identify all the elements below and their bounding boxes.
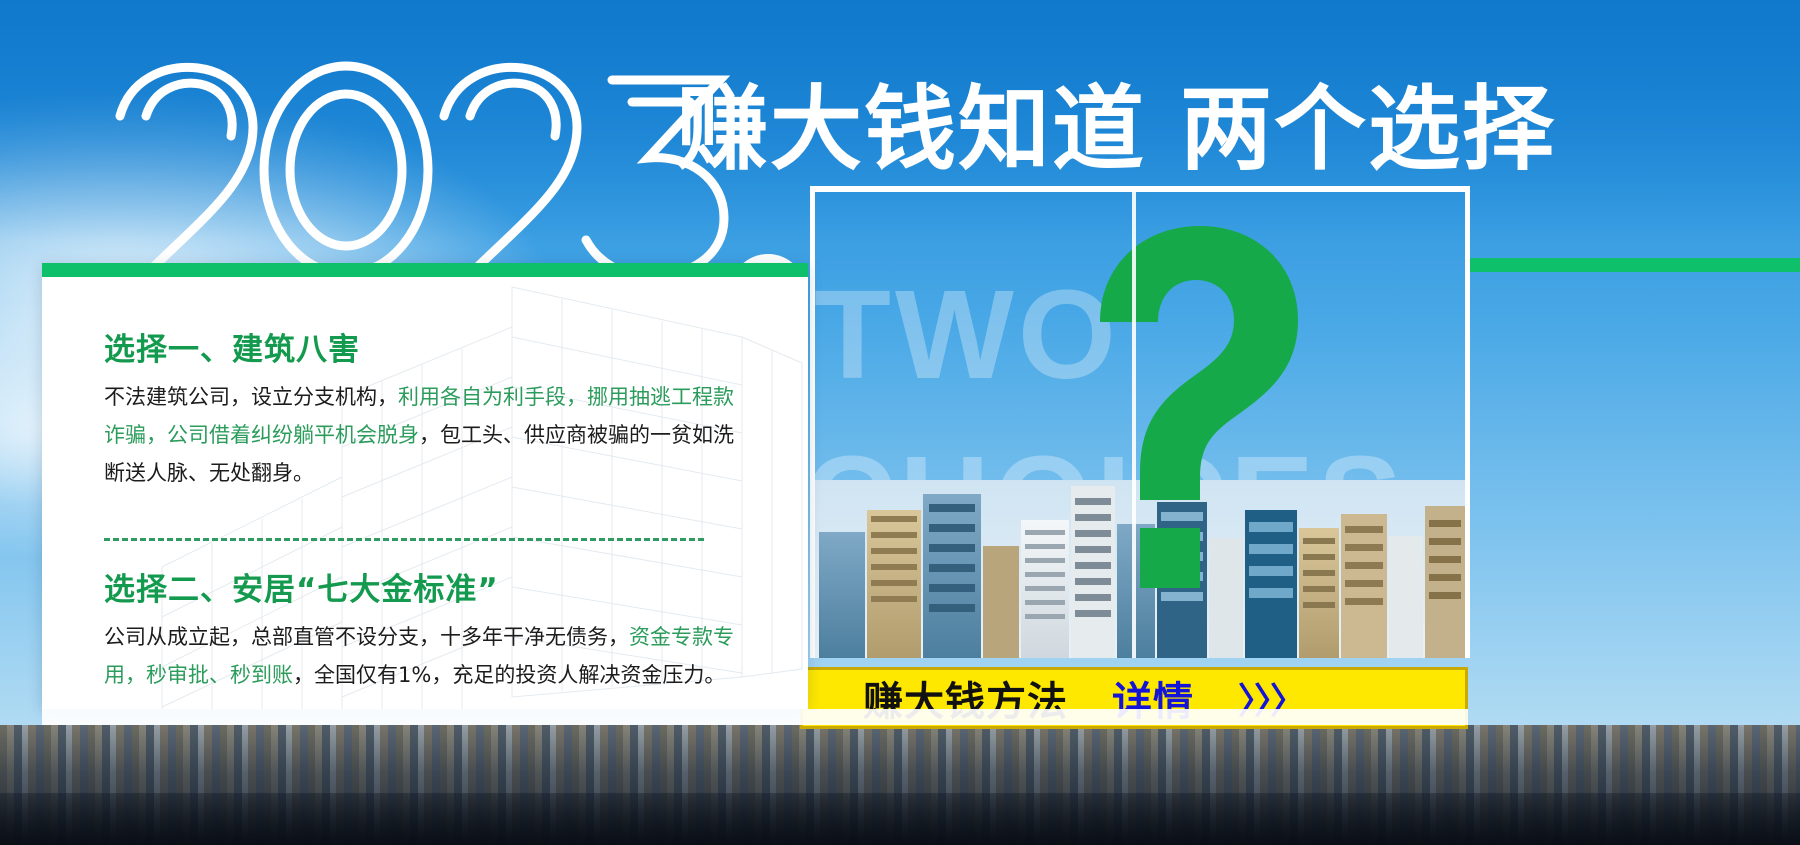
panel-center-divider: [1132, 186, 1136, 658]
card-top-green-bar: [42, 263, 808, 277]
section-2-body: 公司从成立起，总部直管不设分支，十多年干净无债务，资金专款专用，秒审批、秒到账，…: [104, 618, 754, 694]
panel-right-border: [1465, 186, 1470, 658]
section-2-title: 选择二、安居“七大金标准”: [104, 564, 499, 609]
panel-left-border: [810, 186, 815, 658]
section-1-title: 选择一、建筑八害: [104, 324, 360, 369]
right-green-accent-bar: [1470, 258, 1800, 272]
card-base-strip: [42, 709, 1468, 725]
section-divider: [104, 538, 704, 541]
section-2-run-1: 公司从成立起，总部直管不设分支，十多年干净无债务，: [104, 625, 629, 649]
section-1-body: 不法建筑公司，设立分支机构，利用各自为利手段，挪用抽逃工程款诈骗，公司借着纠纷躺…: [104, 378, 754, 492]
card-content: 选择一、建筑八害 不法建筑公司，设立分支机构，利用各自为利手段，挪用抽逃工程款诈…: [42, 277, 808, 709]
section-2-run-3: ，全国仅有1%，充足的投资人解决资金压力。: [293, 663, 725, 687]
section-1-run-1: 不法建筑公司，设立分支机构，: [104, 385, 398, 409]
question-mark-icon: [1060, 210, 1310, 630]
content-card: 选择一、建筑八害 不法建筑公司，设立分支机构，利用各自为利手段，挪用抽逃工程款诈…: [42, 263, 808, 709]
page-title: 赚大钱知道 两个选择: [676, 78, 1776, 182]
year-graphic: 年: [112, 58, 732, 283]
right-visual-panel: TWO CHOICES: [810, 186, 1470, 658]
bottom-shadow-strip: [0, 793, 1800, 845]
panel-top-border: [810, 186, 1470, 192]
year-outline-icon: [112, 58, 732, 283]
banner-stage: 年 赚大钱知道 两个选择 TWO CHOICES: [0, 0, 1800, 845]
